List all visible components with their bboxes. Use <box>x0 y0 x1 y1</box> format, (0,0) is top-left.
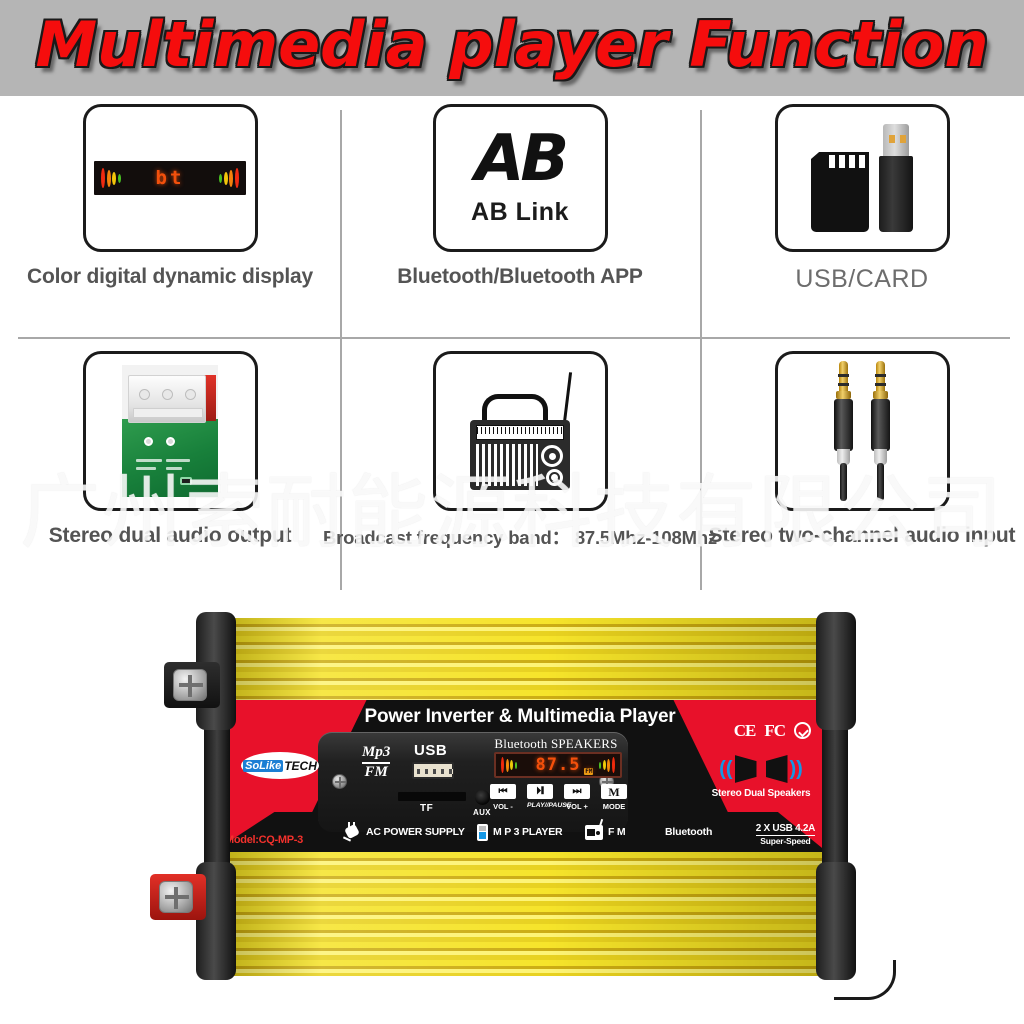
feature-icon-strip: AC POWER SUPPLY M P 3 PLAYER F M Bluetoo… <box>213 816 827 848</box>
pcb-connector-icon-box <box>83 351 258 511</box>
fm-label: FM <box>362 765 390 781</box>
usb-spec-line2: Super-Speed <box>756 836 815 846</box>
speaker-badge-label: Stereo Dual Speakers <box>709 788 813 799</box>
feature-row-top: bt Color digital dynamic display AB AB L… <box>0 104 1024 346</box>
radio-small-icon <box>585 825 603 840</box>
feature-ac-power: AC POWER SUPPLY <box>343 824 465 840</box>
negative-terminal <box>164 662 220 708</box>
display-vu-right <box>599 754 615 776</box>
prev-button-caption: VOL - <box>490 802 516 811</box>
usb-stick-icon <box>879 124 913 232</box>
feature-label-bluetooth-app: Bluetooth/Bluetooth APP <box>397 265 642 289</box>
ab-link-icon-box: AB AB Link <box>433 104 608 252</box>
feature-bluetooth-label: Bluetooth <box>665 826 712 838</box>
feature-cell-stereo-input: Stereo two-channel audio input <box>700 351 1024 593</box>
feature-ac-power-label: AC POWER SUPPLY <box>366 826 465 838</box>
mode-button-caption: MODE <box>601 802 627 811</box>
radio-icon <box>466 372 574 490</box>
display-frequency-value: 87.5FM <box>536 755 581 775</box>
feature-cell-usb-card: USB/CARD <box>700 104 1024 346</box>
usb-sdcard-icon <box>811 124 913 232</box>
product-chassis: Power Inverter & Multimedia Player SoLik… <box>210 618 830 976</box>
sound-wave-left-icon: (( <box>719 759 732 779</box>
control-button-row: ⏮ VOL - ⏵❙ PLAY//PAUSE ⏭ VOL + M MODE <box>490 784 627 811</box>
mp3-label: Mp3 <box>362 745 390 761</box>
tf-card-slot[interactable] <box>398 792 466 801</box>
sound-wave-right-icon: )) <box>790 759 803 779</box>
stereo-dual-speakers-badge: (( )) Stereo Dual Speakers <box>709 752 813 799</box>
brand-logo: SoLikeTECH <box>241 752 319 779</box>
audio-jack-icon <box>834 361 890 501</box>
feature-fm: F M <box>585 825 625 840</box>
feature-label-color-display: Color digital dynamic display <box>27 265 313 289</box>
play-pause-button-glyph: ⏵❙ <box>527 784 553 799</box>
page-title: Multimedia player Function <box>0 6 1024 90</box>
next-button-glyph: ⏭ <box>564 784 590 799</box>
prev-button[interactable]: ⏮ VOL - <box>490 784 516 811</box>
display-fm-indicator: FM <box>584 768 593 775</box>
product-photo: Power Inverter & Multimedia Player SoLik… <box>150 606 890 1024</box>
feature-label-stereo-output: Stereo dual audio output <box>49 524 292 548</box>
ab-logo-mark: AB <box>475 129 565 190</box>
feature-label-stereo-input: Stereo two-channel audio input <box>709 524 1016 548</box>
feature-bluetooth: Bluetooth <box>665 826 712 838</box>
speaker-art-icon: (( )) <box>709 752 813 786</box>
bluetooth-speakers-label: Bluetooth SPEAKERS <box>486 736 626 752</box>
next-button-caption: VOL + <box>564 802 590 811</box>
radio-icon-box <box>433 351 608 511</box>
ce-mark-icon: CE <box>734 722 756 739</box>
prev-button-glyph: ⏮ <box>490 784 516 799</box>
usb-port-label: USB <box>414 742 447 759</box>
feature-row-bottom: Stereo dual audio output Broadcast frequ… <box>0 351 1024 593</box>
check-mark-icon <box>794 722 811 739</box>
usb-port[interactable] <box>412 762 454 779</box>
mp3-fm-label: Mp3 FM <box>362 745 390 781</box>
module-screw-left <box>332 774 347 789</box>
feature-cell-color-display: bt Color digital dynamic display <box>0 104 340 346</box>
brand-logo-prefix: SoLike <box>243 760 283 772</box>
vu-meter-left <box>101 167 121 189</box>
display-vu-left <box>501 754 517 776</box>
vu-meter-right <box>219 167 239 189</box>
mode-button-glyph: M <box>601 784 627 799</box>
usb-sdcard-icon-box <box>775 104 950 252</box>
audio-jack-left <box>834 361 853 501</box>
ab-logo-sub: AB Link <box>471 198 569 227</box>
ab-link-icon: AB AB Link <box>471 129 569 228</box>
power-plug-icon <box>343 824 361 840</box>
led-display-icon: bt <box>94 161 246 195</box>
feature-cell-stereo-output: Stereo dual audio output <box>0 351 340 593</box>
play-pause-button-caption: PLAY//PAUSE <box>527 802 553 809</box>
audio-jack-right <box>871 361 890 501</box>
feature-mp3-label: M P 3 PLAYER <box>493 826 562 838</box>
feature-cell-fm-band: Broadcast frequency band： 87.5Mhz-108Mhz <box>340 351 700 593</box>
next-button[interactable]: ⏭ VOL + <box>564 784 590 811</box>
feature-mp3-player: M P 3 PLAYER <box>477 824 562 841</box>
usb-spec-line1: 2 X USB 4.2A <box>756 823 815 836</box>
mode-button[interactable]: M MODE <box>601 784 627 811</box>
certification-marks: CE FC <box>734 722 811 739</box>
pcb-connector-icon <box>122 365 218 497</box>
tf-slot-label: TF <box>420 803 433 814</box>
mp3-player-icon <box>477 824 488 841</box>
corner-bracket-bottom-right <box>816 862 856 980</box>
positive-terminal <box>150 874 206 920</box>
usb-spec-badge: 2 X USB 4.2A Super-Speed 8 <box>756 823 815 846</box>
feature-label-usb-card: USB/CARD <box>795 265 928 294</box>
led-text: bt <box>156 167 185 189</box>
brand-logo-suffix: TECH <box>284 759 317 773</box>
aux-jack[interactable] <box>475 790 490 805</box>
corner-bracket-top-right <box>816 612 856 730</box>
play-pause-button[interactable]: ⏵❙ PLAY//PAUSE <box>527 784 553 811</box>
led-display-icon-box: bt <box>83 104 258 252</box>
fcc-mark-icon: FC <box>764 722 785 739</box>
audio-jack-icon-box <box>775 351 950 511</box>
feature-grid: bt Color digital dynamic display AB AB L… <box>0 96 1024 606</box>
sdcard-icon <box>811 152 869 232</box>
feature-fm-label: F M <box>608 826 625 838</box>
led-frequency-display: 87.5FM <box>494 752 622 778</box>
product-faceplate: Power Inverter & Multimedia Player SoLik… <box>213 700 827 852</box>
feature-cell-bluetooth-app: AB AB Link Bluetooth/Bluetooth APP <box>340 104 700 346</box>
feature-label-fm-band: Broadcast frequency band： 87.5Mhz-108Mhz <box>323 524 717 550</box>
